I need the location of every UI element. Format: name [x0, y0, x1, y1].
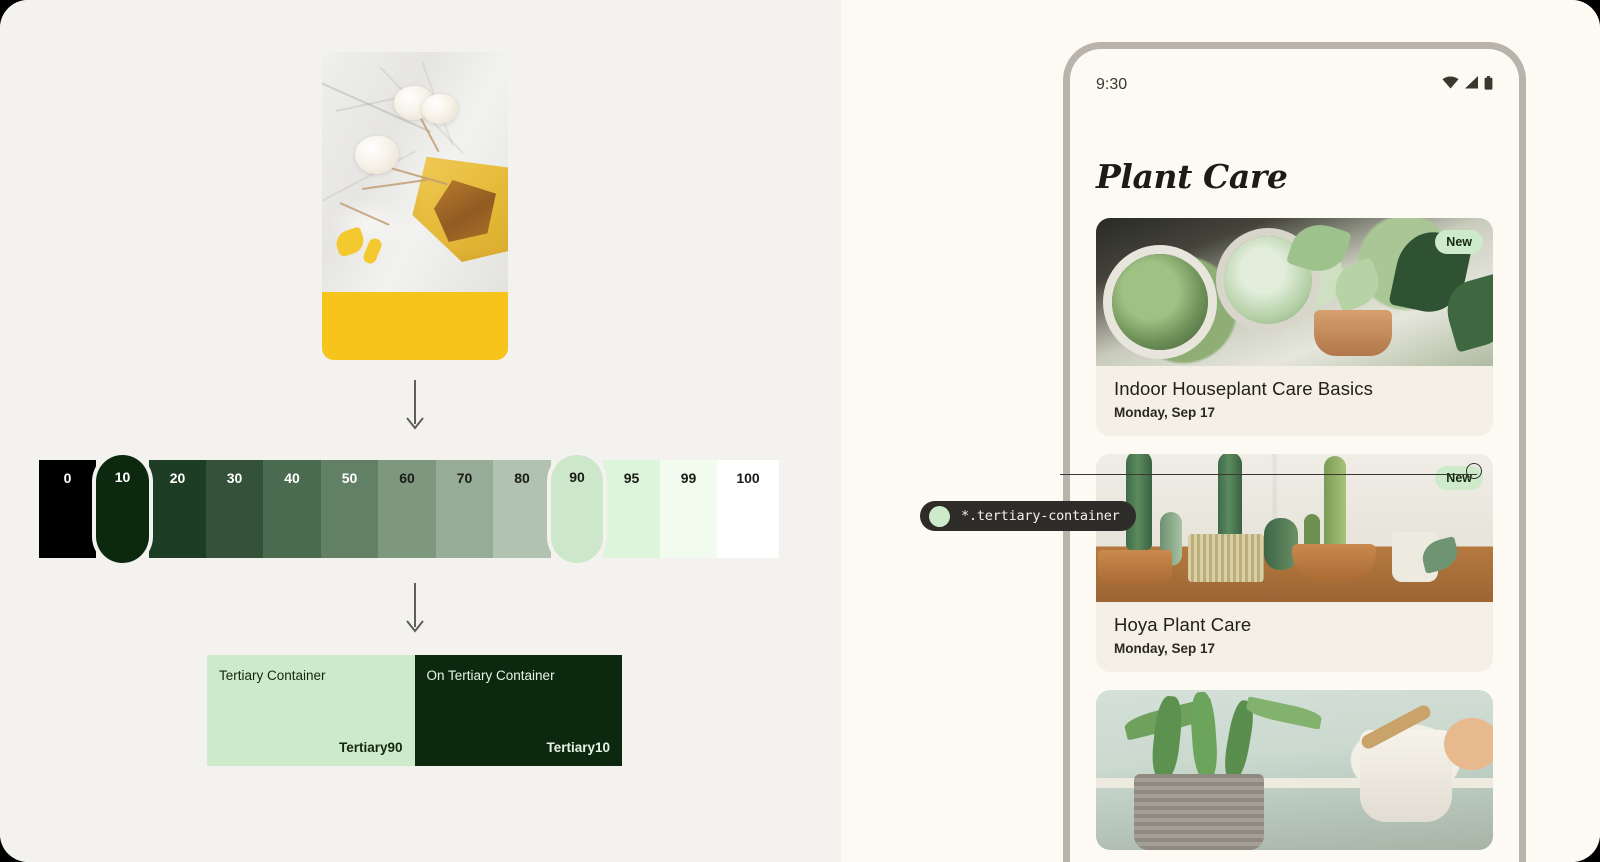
tone-label: 90: [569, 469, 585, 485]
status-bar: 9:30: [1070, 49, 1519, 113]
tone-label: 0: [64, 470, 72, 486]
card-title: Indoor Houseplant Care Basics: [1114, 378, 1475, 400]
inspector-token-label: *.tertiary-container: [961, 508, 1120, 524]
tone-swatch-40[interactable]: 40: [263, 460, 321, 558]
tone-label: 20: [170, 470, 186, 486]
tone-swatch-90[interactable]: 90: [551, 455, 603, 563]
source-image-card[interactable]: [322, 52, 508, 360]
card-date: Monday, Sep 17: [1114, 641, 1475, 656]
status-badge: New: [1435, 230, 1483, 254]
card-media: [1096, 690, 1493, 850]
battery-icon: [1484, 76, 1493, 95]
cellular-signal-icon: [1464, 76, 1479, 94]
tonal-palette: 0 10 20 30 40 50 60 70 80 90 95 99 100: [39, 459, 779, 559]
tone-label: 60: [399, 470, 415, 486]
extracted-color-band: [322, 292, 508, 360]
tone-swatch-0[interactable]: 0: [39, 460, 96, 558]
card-media: New: [1096, 218, 1493, 366]
tone-swatch-100[interactable]: 100: [717, 460, 779, 558]
card-body: Indoor Houseplant Care Basics Monday, Se…: [1096, 366, 1493, 436]
role-token: Tertiary90: [339, 740, 403, 755]
tone-label: 70: [457, 470, 473, 486]
arrow-down-icon: [403, 380, 427, 432]
tone-swatch-30[interactable]: 30: [206, 460, 263, 558]
arrow-down-icon: [403, 583, 427, 635]
inspector-tooltip[interactable]: *.tertiary-container: [920, 501, 1136, 531]
tone-label: 30: [227, 470, 243, 486]
list-item[interactable]: [1096, 690, 1493, 850]
cursor-icon: [1466, 463, 1482, 479]
status-icons: [1442, 76, 1493, 95]
screenshot-canvas: 0 10 20 30 40 50 60 70 80 90 95 99 100 T…: [0, 0, 1600, 862]
tone-label: 40: [284, 470, 300, 486]
card-title: Hoya Plant Care: [1114, 614, 1475, 636]
palette-panel: 0 10 20 30 40 50 60 70 80 90 95 99 100 T…: [0, 0, 841, 862]
tone-swatch-80[interactable]: 80: [493, 460, 551, 558]
status-time: 9:30: [1096, 76, 1127, 94]
inspector-pointer-line: [1060, 474, 1477, 475]
list-item[interactable]: New Hoya Plant Care Monday, Sep 17: [1096, 454, 1493, 672]
tone-swatch-50[interactable]: 50: [321, 460, 378, 558]
tone-swatch-99[interactable]: 99: [660, 460, 717, 558]
list-item[interactable]: New Indoor Houseplant Care Basics Monday…: [1096, 218, 1493, 436]
source-photo: [322, 52, 508, 292]
tone-label: 10: [115, 469, 131, 485]
card-date: Monday, Sep 17: [1114, 405, 1475, 420]
role-name: Tertiary Container: [219, 668, 403, 683]
tone-label: 99: [681, 470, 697, 486]
role-token: Tertiary10: [546, 740, 610, 755]
tone-label: 50: [342, 470, 358, 486]
tone-label: 100: [736, 470, 759, 486]
card-body: Hoya Plant Care Monday, Sep 17: [1096, 602, 1493, 672]
tone-swatch-10[interactable]: 10: [96, 455, 149, 563]
tone-label: 95: [624, 470, 640, 486]
phone-mockup: 9:30 Plant Care: [1063, 42, 1526, 862]
card-media: New: [1096, 454, 1493, 602]
page-title: Plant Care: [1070, 113, 1519, 196]
tone-swatch-20[interactable]: 20: [149, 460, 206, 558]
role-swatches: Tertiary Container Tertiary90 On Tertiar…: [207, 655, 622, 766]
preview-panel: 9:30 Plant Care: [841, 0, 1600, 862]
tone-swatch-60[interactable]: 60: [378, 460, 436, 558]
color-swatch-icon: [929, 506, 950, 527]
role-name: On Tertiary Container: [427, 668, 611, 683]
card-list: New Indoor Houseplant Care Basics Monday…: [1070, 196, 1519, 850]
wifi-icon: [1442, 76, 1459, 94]
tone-swatch-70[interactable]: 70: [436, 460, 493, 558]
role-on-tertiary-container[interactable]: On Tertiary Container Tertiary10: [415, 655, 623, 766]
role-tertiary-container[interactable]: Tertiary Container Tertiary90: [207, 655, 415, 766]
tone-swatch-95[interactable]: 95: [603, 460, 660, 558]
tone-label: 80: [514, 470, 530, 486]
